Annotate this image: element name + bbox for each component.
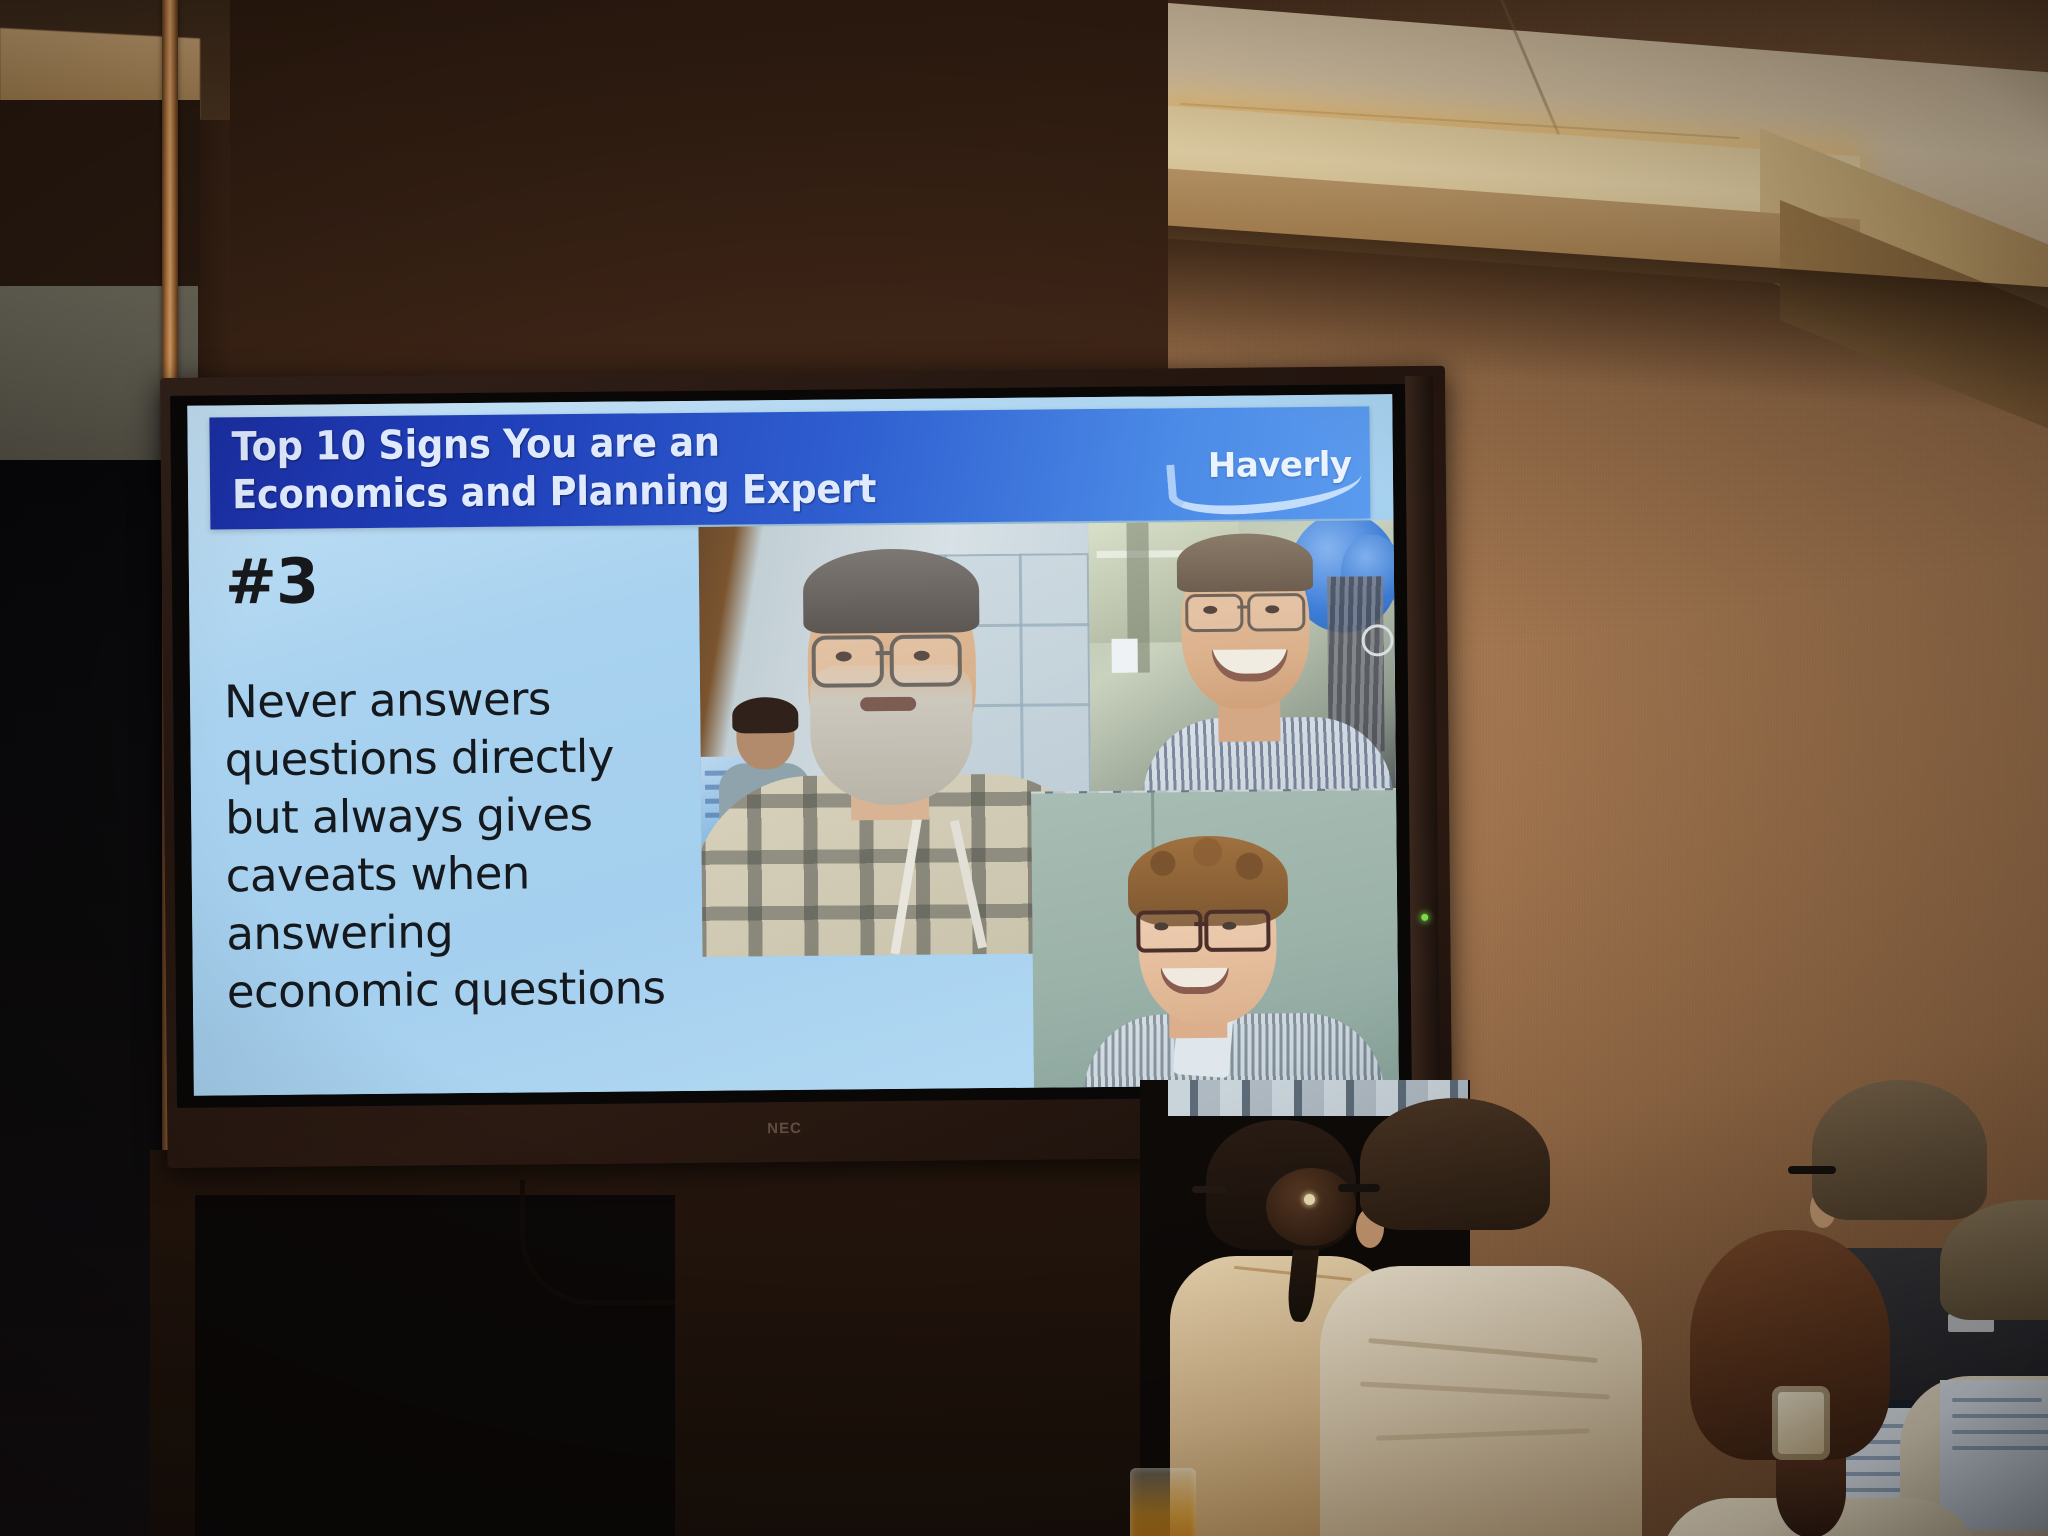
photo-bottom-right-eyeglass-bridge bbox=[1194, 922, 1206, 926]
photo-top-right bbox=[1088, 520, 1396, 813]
slide-title: Top 10 Signs You are an Economics and Pl… bbox=[231, 416, 986, 519]
slide-rank-number: #3 bbox=[225, 544, 319, 618]
photo-top-right-hair bbox=[1177, 533, 1314, 592]
photo-top-right-eyeglass-lens-left bbox=[1185, 594, 1243, 633]
haverly-logo: Haverly bbox=[1164, 437, 1355, 509]
photo-top-right-eyeglass-lens-right bbox=[1247, 593, 1305, 632]
photo-bottom-right bbox=[1031, 788, 1399, 1087]
attendee-2-torso bbox=[1320, 1266, 1642, 1536]
photo-left-hair bbox=[803, 548, 980, 634]
slide-body-text: Never answers questions directly but alw… bbox=[224, 669, 677, 1021]
photo-collage bbox=[698, 520, 1398, 1091]
photo-left-eyeglass-bridge bbox=[876, 651, 892, 655]
photo-left-eyeglass-lens-right bbox=[890, 634, 962, 687]
photo-bottom-right-eyeglass-lens-left bbox=[1136, 910, 1202, 953]
attendee-3-eyeglasses-arm bbox=[1788, 1166, 1836, 1174]
attendee-3-hair bbox=[1812, 1080, 1987, 1220]
attendee-1-hair-pin bbox=[1304, 1194, 1315, 1205]
photo-bottom-right-eyeglass-lens-right bbox=[1204, 909, 1270, 952]
attendee-4-hair-clip bbox=[1772, 1386, 1830, 1460]
conference-room-scene: Top 10 Signs You are an Economics and Pl… bbox=[0, 0, 2048, 1536]
attendee-2-eyeglasses-arm bbox=[1338, 1184, 1380, 1192]
presentation-slide: Top 10 Signs You are an Economics and Pl… bbox=[187, 394, 1399, 1096]
display-power-led bbox=[1421, 914, 1428, 921]
photo-top-right-ring-decor bbox=[1361, 624, 1393, 656]
attendee-2 bbox=[1320, 1098, 1650, 1536]
photo-left-mouth bbox=[860, 697, 916, 712]
haverly-wordmark: Haverly bbox=[1208, 445, 1352, 486]
audience-area bbox=[1140, 1080, 2048, 1536]
photo-top-right-eyeglass-bridge bbox=[1237, 606, 1249, 609]
attendee-4 bbox=[1660, 1230, 1990, 1536]
display-cable bbox=[520, 1180, 675, 1305]
beverage-glass bbox=[1130, 1468, 1196, 1536]
presentation-display[interactable]: Top 10 Signs You are an Economics and Pl… bbox=[160, 366, 1453, 1168]
slide-title-band: Top 10 Signs You are an Economics and Pl… bbox=[209, 406, 1370, 529]
attendee-2-hair bbox=[1360, 1098, 1550, 1230]
display-brand-logo: NEC bbox=[767, 1120, 802, 1137]
photo-bottom-right-polo-shirt bbox=[1083, 1012, 1384, 1087]
attendee-1-eyeglasses-arm bbox=[1192, 1186, 1226, 1193]
display-screen[interactable]: Top 10 Signs You are an Economics and Pl… bbox=[187, 394, 1399, 1096]
photo-top-right-placard bbox=[1112, 639, 1138, 673]
photo-left-eyeglass-lens-left bbox=[812, 635, 884, 688]
